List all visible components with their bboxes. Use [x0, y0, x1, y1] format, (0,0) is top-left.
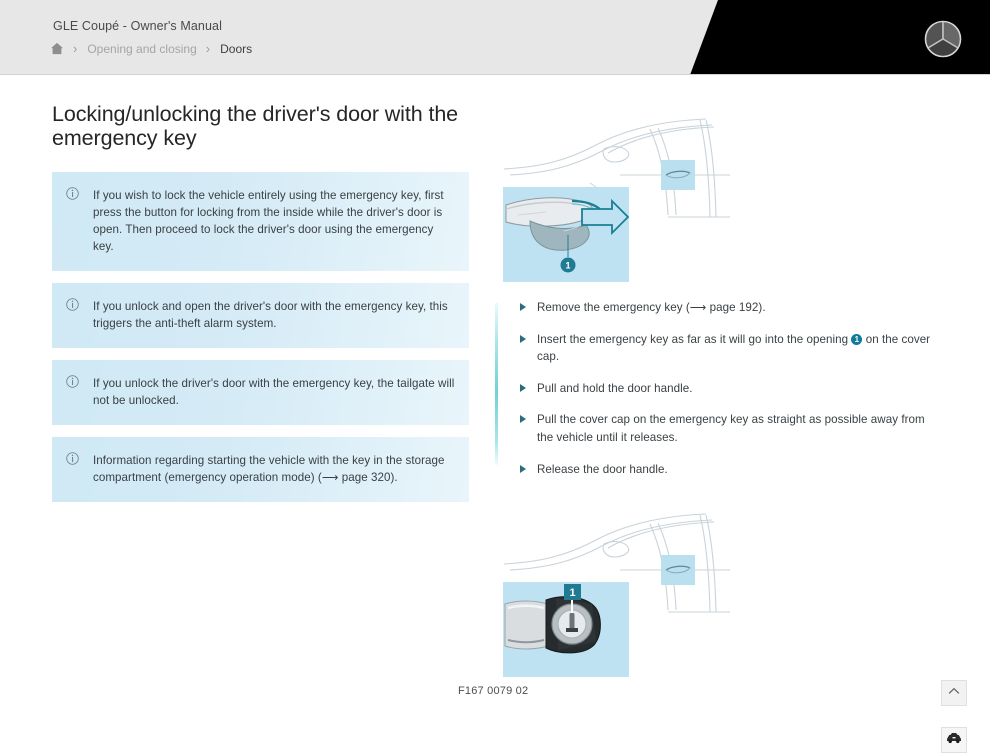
callout-badge: 1: [851, 334, 862, 345]
info-box-text: If you unlock and open the driver's door…: [93, 298, 455, 332]
triangle-right-icon: [520, 303, 526, 311]
procedure-step-list: Remove the emergency key (⟶ page 192). I…: [495, 299, 935, 478]
list-item: Insert the emergency key as far as it wi…: [511, 331, 935, 366]
triangle-right-icon: [520, 415, 526, 423]
mercedes-benz-star-icon[interactable]: [923, 19, 963, 59]
step-text: Release the door handle.: [537, 463, 668, 476]
info-box-text: Information regarding starting the vehic…: [93, 452, 455, 486]
breadcrumb-item-opening-and-closing[interactable]: Opening and closing: [87, 42, 196, 56]
page-content: Locking/unlocking the driver's door with…: [0, 75, 990, 700]
emergency-key-lock-cylinder-figure: 1: [500, 500, 730, 680]
step-text: Pull and hold the door handle.: [537, 382, 693, 395]
step-text: Remove the emergency key (⟶ page 192).: [537, 301, 766, 314]
info-box: If you unlock the driver's door with the…: [52, 360, 469, 425]
info-box-text: If you wish to lock the vehicle entirely…: [93, 187, 455, 255]
info-circle-icon: [66, 375, 79, 388]
breadcrumb-separator-2: ›: [197, 42, 220, 55]
list-item: Remove the emergency key (⟶ page 192).: [511, 299, 935, 317]
info-box: If you wish to lock the vehicle entirely…: [52, 172, 469, 271]
manual-title: GLE Coupé - Owner's Manual: [53, 19, 222, 33]
app-header: GLE Coupé - Owner's Manual › Opening and…: [0, 0, 990, 75]
info-box: Information regarding starting the vehic…: [52, 437, 469, 502]
list-item: Release the door handle.: [511, 461, 935, 479]
step-text: Pull the cover cap on the emergency key …: [537, 413, 925, 444]
triangle-right-icon: [520, 335, 526, 343]
right-column: 1 Remove the emergency key (⟶ page 192).…: [495, 75, 935, 680]
triangle-right-icon: [520, 465, 526, 473]
left-column: Locking/unlocking the driver's door with…: [52, 102, 469, 514]
breadcrumb: › Opening and closing › Doors: [50, 41, 252, 56]
info-box-text: If you unlock the driver's door with the…: [93, 375, 455, 409]
figure-callout-label: 1: [565, 261, 570, 271]
vehicle-view-button[interactable]: [941, 727, 967, 753]
info-box: If you unlock and open the driver's door…: [52, 283, 469, 348]
vehicle-glyph-icon: [946, 730, 962, 751]
step-text: Insert the emergency key as far as it wi…: [537, 333, 851, 346]
door-handle-cover-cap-figure: 1: [500, 105, 730, 285]
list-item: Pull and hold the door handle.: [511, 380, 935, 398]
breadcrumb-separator-1: ›: [64, 42, 87, 55]
info-circle-icon: [66, 298, 79, 311]
scroll-to-top-button[interactable]: [941, 680, 967, 706]
page-title: Locking/unlocking the driver's door with…: [52, 102, 469, 150]
figure-caption: F167 0079 02: [458, 685, 528, 697]
home-icon[interactable]: [50, 41, 64, 56]
list-item: Pull the cover cap on the emergency key …: [511, 411, 935, 446]
triangle-right-icon: [520, 384, 526, 392]
info-circle-icon: [66, 187, 79, 200]
info-circle-icon: [66, 452, 79, 465]
figure-callout-label: 1: [569, 587, 575, 599]
breadcrumb-item-doors[interactable]: Doors: [220, 42, 252, 56]
